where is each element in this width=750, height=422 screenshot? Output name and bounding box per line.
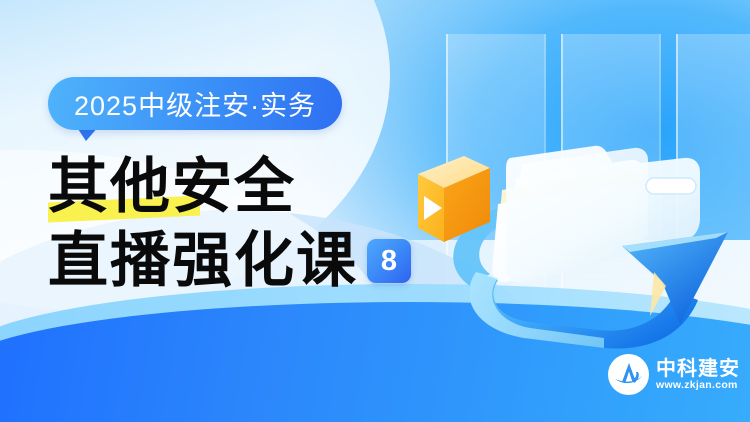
brand-text: 中科建安 www.zkjan.com (656, 357, 740, 392)
brand-url: www.zkjan.com (656, 379, 740, 392)
title-line-2: 直播强化课 8 (48, 224, 411, 298)
title-line-1: 其他安全 (48, 150, 411, 224)
category-badge: 2025中级注安·实务 (48, 77, 342, 130)
title-block: 其他安全 直播强化课 8 (48, 150, 411, 298)
page-title: 其他安全 (48, 150, 296, 224)
brand-logo: 中科建安 www.zkjan.com (608, 354, 740, 395)
episode-number-badge: 8 (367, 239, 411, 283)
episode-number-label: 8 (381, 247, 397, 276)
page-subtitle: 直播强化课 (48, 224, 358, 298)
course-promo-banner: 2025中级注安·实务 其他安全 直播强化课 8 中科建安 www.zkjan.… (0, 0, 750, 422)
arrow-top-highlight (469, 272, 604, 348)
brand-name: 中科建安 (656, 357, 740, 379)
folder-label-slot (646, 178, 696, 194)
course-illustration (398, 86, 750, 354)
brand-logo-icon (608, 354, 649, 395)
category-badge-label: 2025中级注安·实务 (74, 84, 316, 123)
